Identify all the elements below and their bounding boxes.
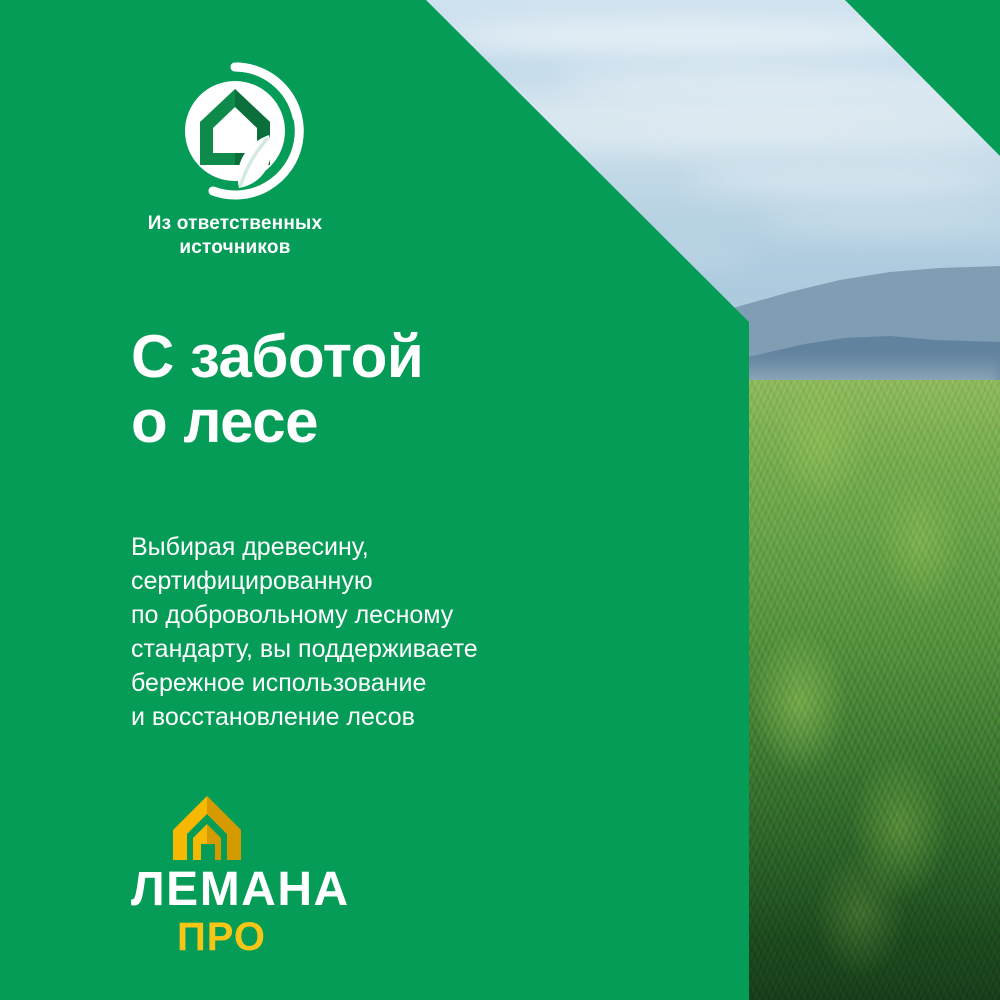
brand-subtitle: ПРО xyxy=(177,917,350,957)
poster-content: Из ответственных источников С заботой о … xyxy=(0,0,749,1000)
poster-canvas: Из ответственных источников С заботой о … xyxy=(0,0,1000,1000)
badge-caption: Из ответственных источников xyxy=(130,212,340,260)
brand-name: ЛЕМАНА xyxy=(131,866,350,914)
eco-house-leaf-circle-logo xyxy=(166,62,304,200)
house-roof-icon xyxy=(171,794,243,862)
certification-badge: Из ответственных источников xyxy=(130,62,340,260)
body-copy: Выбирая древесину, сертифицированную по … xyxy=(131,530,478,734)
page-title: С заботой о лесе xyxy=(131,325,423,455)
brand-logo: ЛЕМАНА ПРО xyxy=(131,794,350,957)
